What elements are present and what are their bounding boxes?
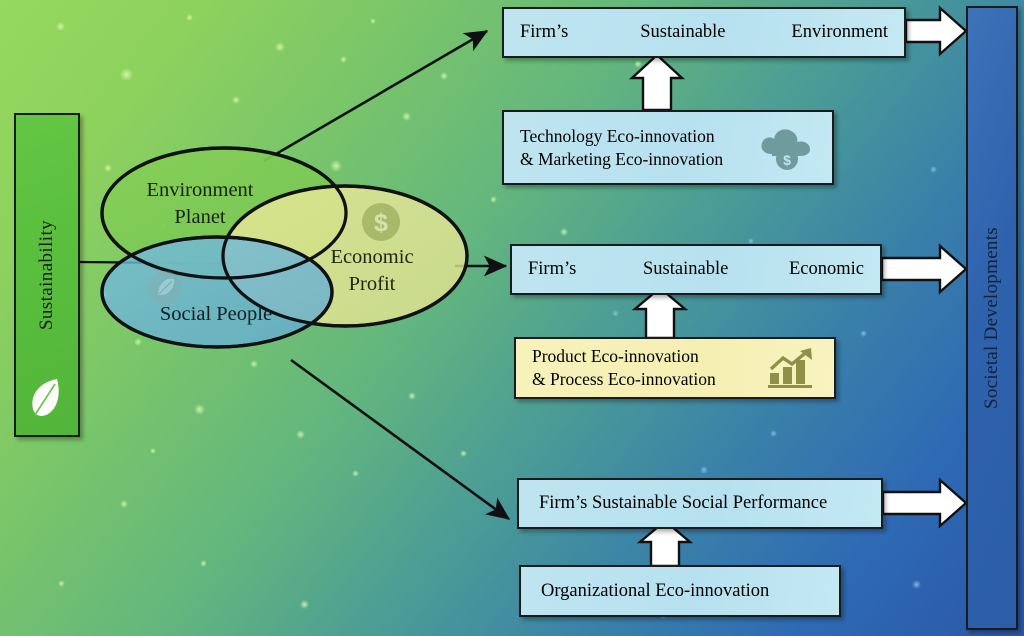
svg-text:$: $ — [783, 152, 791, 168]
env-outcome-part-2: Sustainable — [640, 22, 725, 43]
eco-outcome-part-2: Sustainable — [643, 259, 728, 280]
firms-sustainable-economic-box[interactable]: Firm’s Sustainable Economic — [510, 244, 882, 295]
venn-label-social: Social People — [160, 303, 272, 325]
technology-marketing-eco-innovation-box[interactable]: Technology Eco-innovation & Marketing Ec… — [502, 110, 834, 185]
eco-outcome-part-3: Economic — [789, 259, 864, 280]
prod-eco-line-1: Product Eco-innovation — [532, 345, 716, 368]
venn-label-environment-line2: Planet — [174, 206, 226, 228]
venn-label-economic-line2: Profit — [349, 273, 396, 295]
tech-eco-line-1: Technology Eco-innovation — [520, 125, 723, 148]
soc-outcome-text: Firm’s Sustainable Social Performance — [519, 493, 827, 514]
dollar-coin-icon: $ — [362, 203, 400, 241]
env-outcome-part-3: Environment — [791, 22, 888, 43]
sustainability-bar[interactable]: Sustainability — [14, 113, 80, 437]
venn-label-economic-line1: Economic — [330, 246, 413, 268]
leaf-badge-icon — [148, 271, 182, 305]
societal-developments-bar[interactable]: Societal Developments — [966, 6, 1018, 630]
venn-diagram: $ Environment Planet Economic Profit Soc… — [92, 140, 482, 360]
org-eco-text: Organizational Eco-innovation — [521, 581, 769, 602]
eco-outcome-part-1: Firm’s — [528, 259, 576, 280]
firms-sustainable-environment-box[interactable]: Firm’s Sustainable Environment — [502, 7, 906, 58]
sustainability-label: Sustainability — [36, 220, 58, 330]
tech-eco-line-2: & Marketing Eco-innovation — [520, 148, 723, 171]
societal-developments-label: Societal Developments — [981, 227, 1003, 409]
svg-text:$: $ — [374, 209, 388, 237]
diagram-canvas: $ Environment Planet Economic Profit Soc… — [0, 0, 1024, 636]
growth-chart-icon — [766, 347, 818, 389]
firms-sustainable-social-performance-box[interactable]: Firm’s Sustainable Social Performance — [517, 478, 883, 529]
leaf-icon — [27, 375, 67, 419]
cloud-dollar-icon: $ — [756, 124, 818, 172]
env-outcome-part-1: Firm’s — [520, 22, 568, 43]
organizational-eco-innovation-box[interactable]: Organizational Eco-innovation — [519, 565, 841, 617]
prod-eco-line-2: & Process Eco-innovation — [532, 368, 716, 391]
product-process-eco-innovation-box[interactable]: Product Eco-innovation & Process Eco-inn… — [514, 337, 836, 399]
venn-label-environment-line1: Environment — [146, 179, 253, 201]
